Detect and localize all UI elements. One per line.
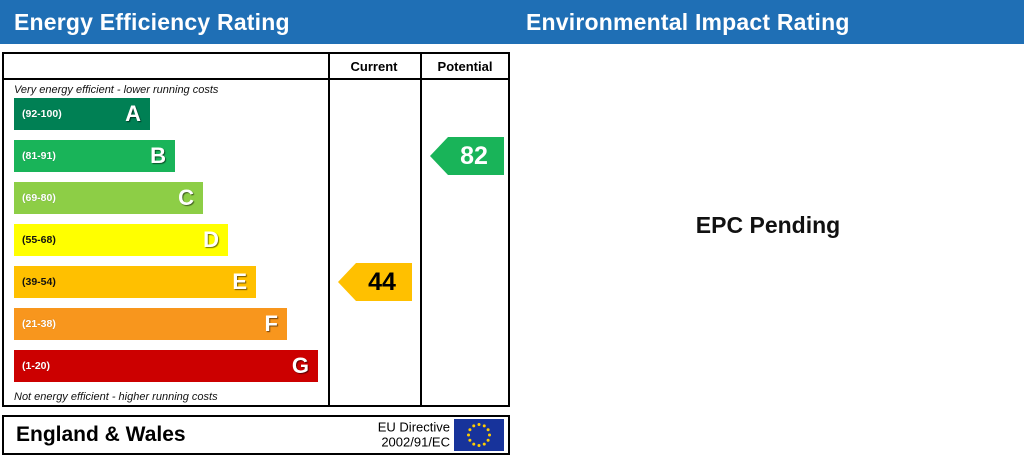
energy-efficiency-title: Energy Efficiency Rating [14,9,290,36]
environmental-impact-title: Environmental Impact Rating [526,9,850,36]
chart-column-header-row: Current Potential [4,54,508,80]
column-divider-2 [420,54,422,405]
footer-directive-line2: 2002/91/EC [378,435,450,450]
epc-pending-area: EPC Pending [512,44,1024,407]
footer-directive: EU Directive 2002/91/EC [378,420,450,451]
rating-band-c: (69-80)C [14,182,203,214]
rating-band-range: (1-20) [22,360,50,372]
rating-band-f: (21-38)F [14,308,287,340]
current-rating-arrow-value: 44 [354,270,396,295]
rating-band-range: (81-91) [22,150,56,162]
rating-band-letter: G [292,355,309,377]
rating-band-letter: A [125,103,141,125]
footer-region-label: England & Wales [16,423,186,447]
rating-band-g: (1-20)G [14,350,318,382]
energy-rating-chart: Current Potential Very energy efficient … [2,52,510,407]
rating-band-range: (69-80) [22,192,56,204]
epc-graph: Energy Efficiency Rating Environmental I… [0,0,1024,457]
rating-band-range: (92-100) [22,108,62,120]
rating-band-letter: C [178,187,194,209]
rating-band-range: (21-38) [22,318,56,330]
rating-band-a: (92-100)A [14,98,150,130]
rating-band-d: (55-68)D [14,224,228,256]
rating-band-range: (55-68) [22,234,56,246]
current-rating-arrow: 44 [338,263,412,301]
environmental-impact-panel: EPC Pending England & Wales EU Directive… [512,44,1024,457]
rating-band-letter: E [232,271,247,293]
column-divider-1 [328,54,330,405]
potential-rating-arrow: 82 [430,137,504,175]
rating-band-e: (39-54)E [14,266,256,298]
rating-band-b: (81-91)B [14,140,175,172]
column-header-potential-label: Potential [438,59,493,74]
column-header-current: Current [328,54,420,78]
efficiency-note-bottom: Not energy efficient - higher running co… [14,391,218,403]
rating-band-letter: F [265,313,278,335]
column-header-potential: Potential [422,54,508,78]
energy-efficiency-panel: Current Potential Very energy efficient … [0,44,512,457]
rating-bands-area: Very energy efficient - lower running co… [4,80,328,407]
eu-flag-icon [454,419,504,451]
rating-band-range: (39-54) [22,276,56,288]
rating-band-letter: B [150,145,166,167]
potential-rating-arrow-value: 82 [446,144,488,169]
epc-pending-text: EPC Pending [696,212,840,239]
energy-efficiency-header: Energy Efficiency Rating [0,0,512,44]
footer-directive-line1: EU Directive [378,420,450,435]
efficiency-note-top: Very energy efficient - lower running co… [14,84,218,96]
rating-band-letter: D [203,229,219,251]
column-header-current-label: Current [351,59,398,74]
environmental-impact-header: Environmental Impact Rating [512,0,1024,44]
footer-left: England & Wales EU Directive 2002/91/EC [2,415,510,455]
